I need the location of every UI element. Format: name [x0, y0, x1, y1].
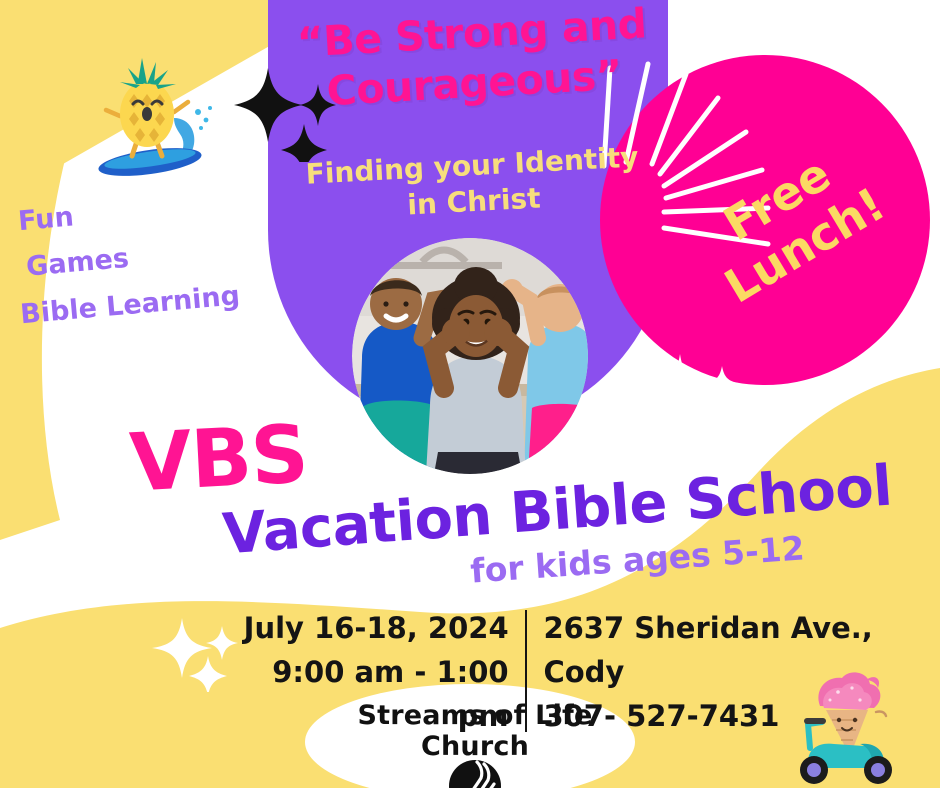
event-date: July 16-18, 2024 — [228, 606, 509, 650]
church-name: Streams of Life Church — [310, 700, 640, 762]
surfing-pineapple-icon — [88, 56, 218, 186]
church-badge: Streams of Life Church — [310, 700, 640, 788]
feature-list: Fun Games Bible Learning — [10, 181, 242, 339]
white-sparkle-icon — [650, 352, 760, 432]
kids-flexing-arms-photo — [352, 238, 588, 474]
vbs-acronym-title: VBS — [128, 407, 310, 509]
ice-cream-cone-on-scooter-icon — [786, 668, 916, 788]
streams-of-life-logo-icon — [310, 758, 640, 788]
vbs-flyer-poster: “Be Strong and Courageous” Finding your … — [0, 0, 940, 788]
